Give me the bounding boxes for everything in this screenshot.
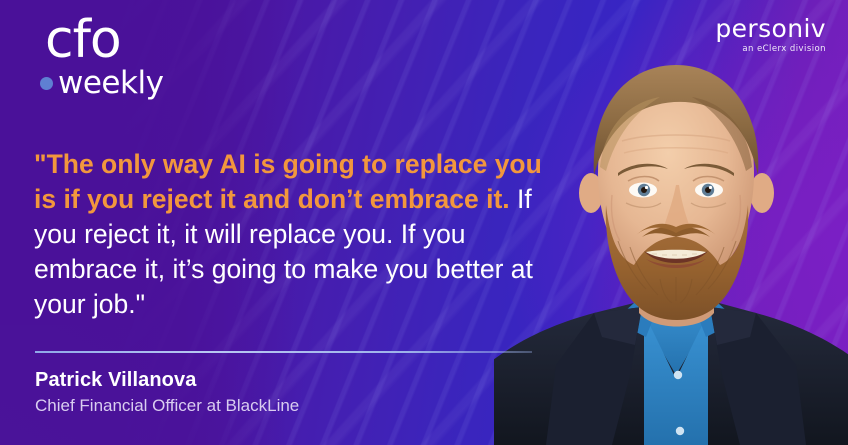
logo-word-cfo: cfo [45,14,180,66]
speaker-role: Chief Financial Officer at BlackLine [35,394,299,418]
logo-weekly-row: weekly [40,68,180,99]
quote-highlight: "The only way AI is going to replace you… [34,149,542,214]
logo-word-weekly: weekly [58,68,163,99]
cfo-weekly-logo[interactable]: cfo weekly [40,14,180,98]
quote-text: "The only way AI is going to replace you… [34,147,554,322]
speaker-name: Patrick Villanova [35,367,299,393]
personiv-tagline: an eClerx division [715,44,826,54]
attribution: Patrick Villanova Chief Financial Office… [35,367,299,418]
quote-card: cfo weekly personiv an eClerx division "… [0,0,848,445]
personiv-wordmark: personiv [715,16,826,42]
logo-dot-icon [40,77,53,90]
attribution-divider [35,351,532,353]
personiv-logo[interactable]: personiv an eClerx division [715,16,826,54]
